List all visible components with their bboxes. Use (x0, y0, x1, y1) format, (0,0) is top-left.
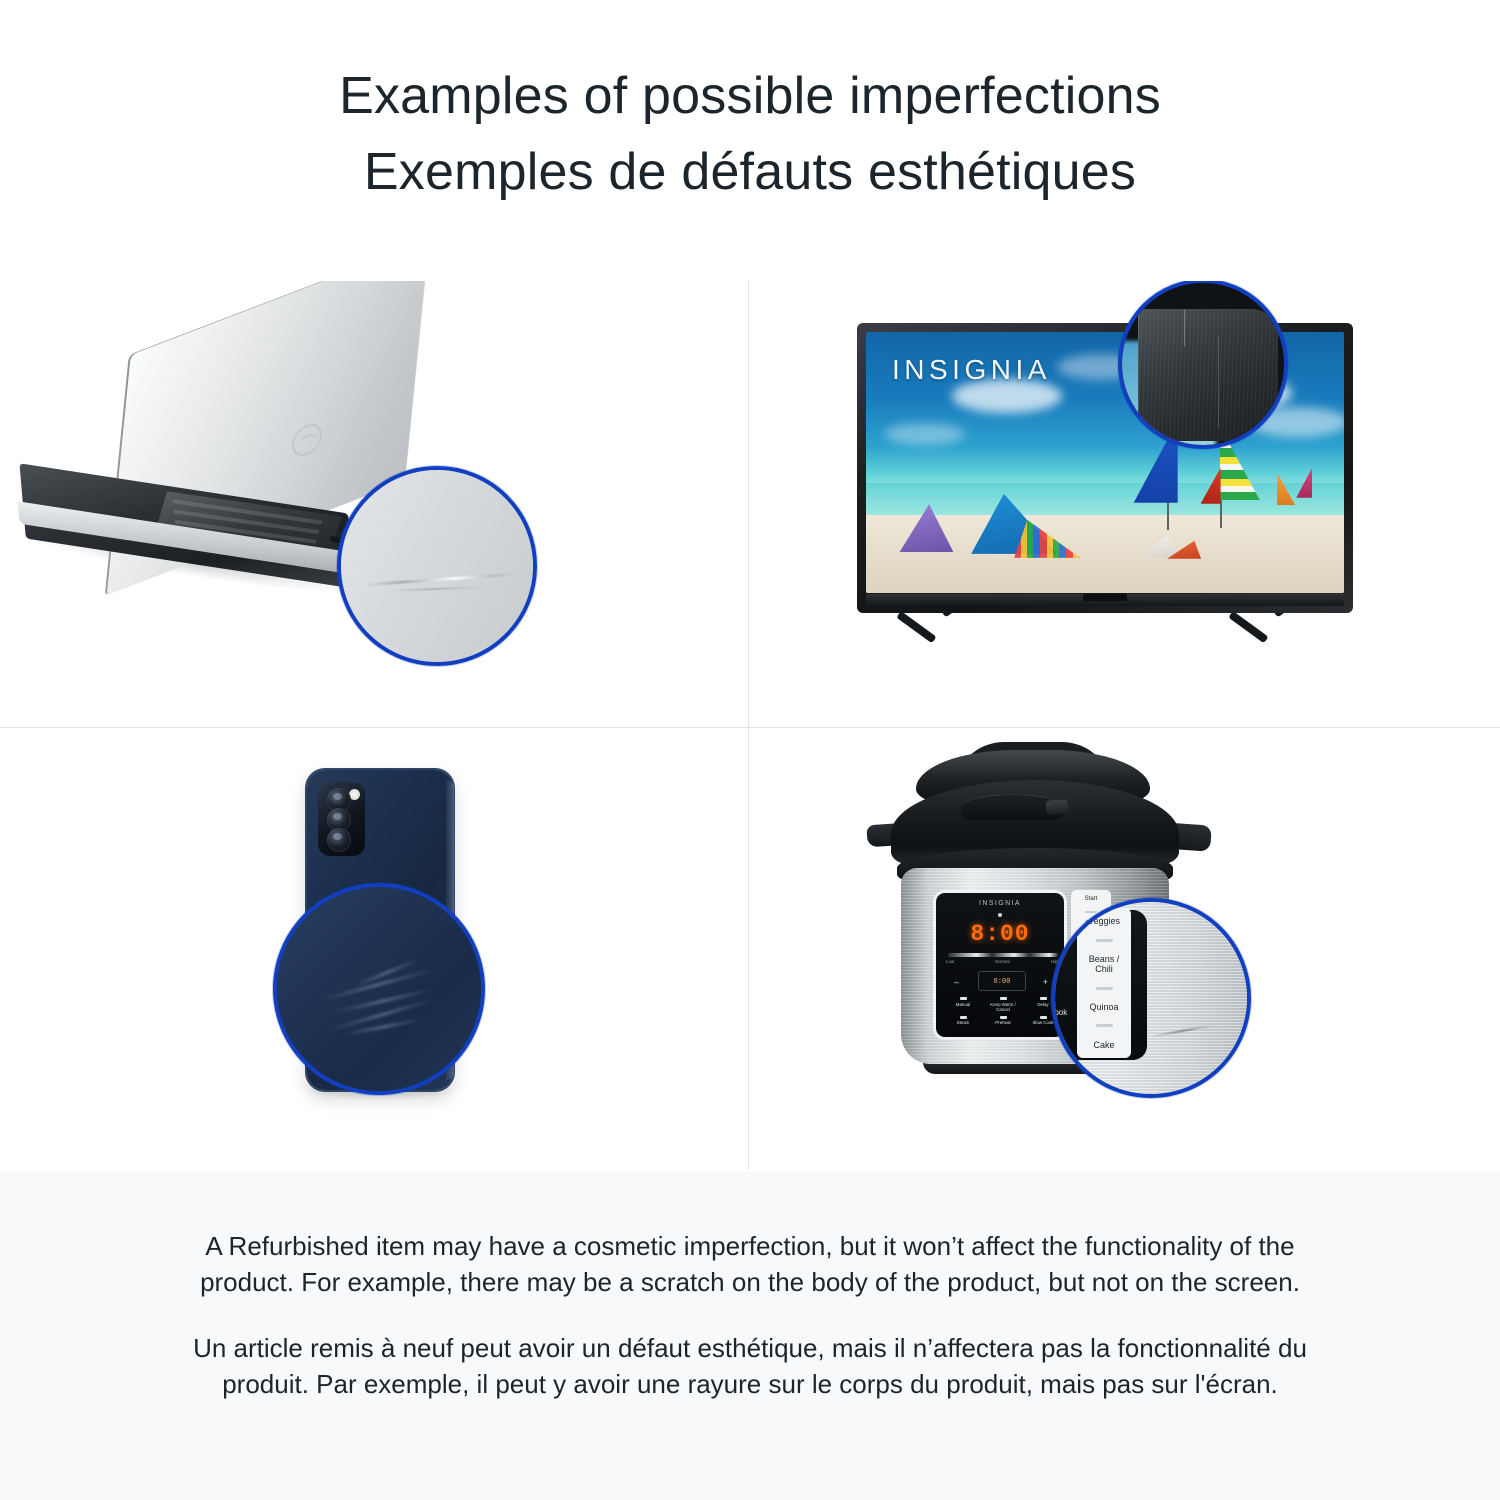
cooker-steam-valve (1046, 799, 1069, 815)
cooker-mode-button[interactable]: Preheat (984, 1016, 1022, 1026)
camera-module (318, 782, 365, 856)
magnified-button-column[interactable]: Veggies Beans / Chili Quinoa Cake (1077, 908, 1131, 1058)
panel-laptop (0, 281, 748, 727)
footer-paragraph-french: Un article remis à neuf peut avoir un dé… (180, 1330, 1320, 1402)
cooker-pressure-scale (948, 953, 1058, 957)
pressure-cooker-illustration: INSIGNIA 8:00 Low Normal High 8:00 – + M… (749, 728, 1500, 1170)
tv-foot-right (1233, 611, 1311, 653)
magnifier-laptop-surface (337, 466, 537, 666)
footer-paragraph-english: A Refurbished item may have a cosmetic i… (180, 1228, 1320, 1300)
button-divider (1096, 939, 1113, 942)
tv-bottom-bar (866, 594, 1344, 606)
tv-ir-sensor (1083, 594, 1127, 601)
laptop-illustration (0, 281, 748, 727)
button-divider (1096, 1024, 1113, 1027)
pressure-label-normal: Normal (995, 959, 1010, 964)
cooker-brand-label: INSIGNIA (979, 900, 1021, 907)
cooker-control-panel[interactable]: INSIGNIA 8:00 Low Normal High 8:00 – + M… (933, 890, 1067, 1040)
panel-tv: INSIGNIA (749, 281, 1500, 727)
examples-grid: INSIGNIA (0, 281, 1500, 1170)
cooker-mode-button[interactable]: Steam (944, 1016, 982, 1026)
panel-pressure-cooker: INSIGNIA 8:00 Low Normal High 8:00 – + M… (749, 728, 1500, 1170)
tv-illustration: INSIGNIA (749, 281, 1500, 727)
magnified-button-beans[interactable]: Beans / Chili (1079, 954, 1129, 975)
cooker-indicator-light (998, 913, 1002, 917)
footer-description: A Refurbished item may have a cosmetic i… (0, 1172, 1500, 1500)
magnifier-laptop-scratch (337, 466, 537, 666)
magnified-slow-cook-label: Slow Cook (1051, 1008, 1067, 1017)
magnified-button-cake[interactable]: Cake (1093, 1040, 1114, 1050)
panel-phone (0, 728, 748, 1170)
phone-illustration (0, 728, 748, 1170)
cooker-mode-button[interactable]: Manual (944, 997, 982, 1013)
magnifier-cooker-scratch: Delay Slow Cook Veggies Beans / Chili Qu… (1051, 898, 1251, 1098)
cooker-pressure-labels: Low Normal High (946, 959, 1060, 964)
cooker-mode-button[interactable]: Keep Warm / Cancel (984, 997, 1022, 1013)
cooker-plus-button[interactable]: + (1043, 977, 1048, 987)
page-title-french: Exemples de défauts esthétiques (0, 134, 1500, 210)
cooker-led-display: 8:00 (970, 921, 1029, 947)
magnifier-tv-scratch (1118, 281, 1288, 449)
bezel-seam (1184, 310, 1185, 346)
cooker-minus-button[interactable]: – (954, 977, 959, 987)
magnified-button-veggies[interactable]: Veggies (1088, 916, 1120, 926)
magnified-button-quinoa[interactable]: Quinoa (1089, 1002, 1118, 1012)
bezel-texture (1138, 309, 1278, 441)
magnifier-phone-surface (273, 883, 485, 1095)
cooker-sub-display: 8:00 (978, 971, 1026, 991)
button-divider (1096, 987, 1113, 990)
tv-foot-left (901, 611, 979, 653)
tv-screen-logo: INSIGNIA (892, 354, 1051, 386)
pressure-label-low: Low (946, 959, 954, 964)
page-title-english: Examples of possible imperfections (0, 58, 1500, 134)
infographic-page: Examples of possible imperfections Exemp… (0, 0, 1500, 1500)
magnifier-phone-scratches (273, 883, 485, 1095)
page-title: Examples of possible imperfections Exemp… (0, 58, 1500, 210)
cooker-mode-button-grid[interactable]: Manual Keep Warm / Cancel Delay Steam Pr… (944, 997, 1062, 1026)
camera-lens-icon (327, 828, 351, 852)
scratch-mark (1218, 337, 1219, 427)
